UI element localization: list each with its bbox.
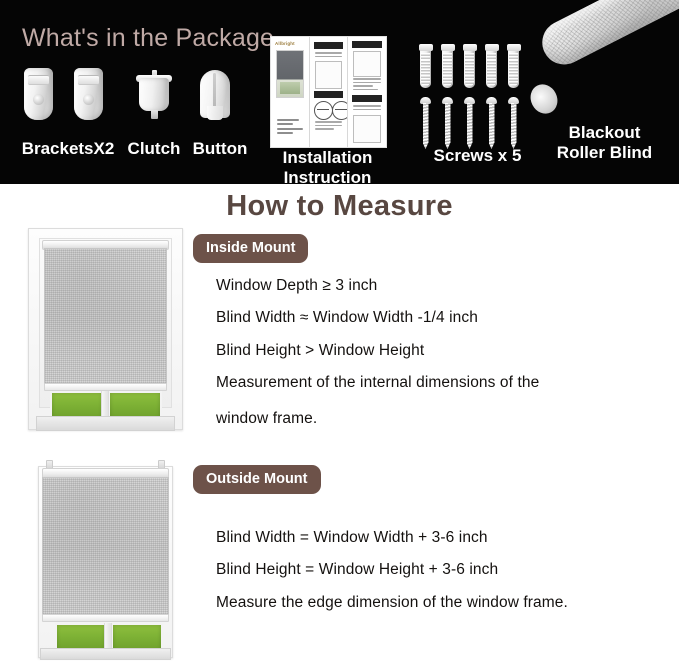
screw-icon <box>487 97 496 149</box>
blind-shade-fabric <box>42 477 169 617</box>
inside-mount-illustration <box>28 228 183 430</box>
package-item-label-brackets: BracketsX2 <box>18 139 118 159</box>
booklet-step-bar <box>352 95 382 102</box>
booklet-diagram-circle <box>332 101 348 120</box>
window-mullion <box>104 623 112 649</box>
instruction-label-line1: Installation <box>283 148 373 167</box>
inside-mount-line-1: Window Depth ≥ 3 inch <box>216 277 377 295</box>
package-item-brackets <box>18 68 118 124</box>
outside-mount-badge: Outside Mount <box>193 465 321 494</box>
rolled-blind-end-cap-icon <box>528 80 562 119</box>
blind-label-line1: Blackout <box>569 123 641 142</box>
button-neck-icon <box>207 106 223 120</box>
screw-icon <box>443 97 452 149</box>
package-title: What's in the Package <box>22 24 274 53</box>
screw-icon <box>421 97 430 149</box>
window-sill <box>40 648 171 660</box>
window-mullion <box>101 391 109 417</box>
blind-label-line2: Roller Blind <box>557 143 652 162</box>
package-item-instruction: Allbright <box>270 36 387 148</box>
blind-shade-fabric <box>44 248 167 386</box>
blind-hem-bar <box>44 383 167 391</box>
blind-hem-bar <box>42 614 169 622</box>
inside-mount-line-2: Blind Width ≈ Window Width -1/4 inch <box>216 309 478 327</box>
booklet-cover-footer <box>277 119 303 141</box>
booklet-text-lines <box>353 78 381 92</box>
inside-mount-badge: Inside Mount <box>193 234 308 263</box>
window-sill <box>36 416 175 431</box>
package-item-clutch <box>131 68 177 124</box>
inside-mount-line-3: Blind Height > Window Height <box>216 342 424 360</box>
package-item-label-clutch: Clutch <box>124 139 184 159</box>
outside-mount-line-1: Blind Width = Window Width + 3-6 inch <box>216 529 488 547</box>
booklet-text-lines <box>315 52 343 59</box>
booklet-diagram-circle <box>314 101 333 120</box>
wall-anchor-icon <box>442 44 453 88</box>
booklet-text-lines <box>353 105 381 112</box>
bracket-icon <box>74 68 103 120</box>
booklet-text-lines <box>315 121 343 132</box>
booklet-parts-sketch <box>315 61 343 89</box>
rolled-blind-icon <box>535 0 679 72</box>
screw-icon <box>509 97 518 149</box>
wall-anchor-icon <box>486 44 497 88</box>
outside-mount-line-3: Measure the edge dimension of the window… <box>216 594 568 612</box>
package-item-blind <box>528 0 679 122</box>
wall-anchor-icon <box>508 44 519 88</box>
package-item-label-instruction: Installation Instruction <box>265 148 390 184</box>
booklet-fold-parts <box>309 37 348 147</box>
booklet-step-bar <box>314 91 344 98</box>
booklet-brand-label: Allbright <box>275 41 295 46</box>
wall-anchor-icon <box>420 44 431 88</box>
package-item-label-button: Button <box>188 139 252 159</box>
package-item-label-blind: Blackout Roller Blind <box>530 123 679 162</box>
outside-mount-line-2: Blind Height = Window Height + 3-6 inch <box>216 561 498 579</box>
booklet-fold-cover: Allbright <box>271 37 309 147</box>
booklet-cover-photo <box>276 50 304 98</box>
clutch-pin-bottom-icon <box>151 110 158 119</box>
wall-anchor-icon <box>464 44 475 88</box>
screw-icon <box>465 97 474 149</box>
instruction-label-line2: Instruction <box>284 168 372 184</box>
clutch-icon <box>139 78 169 111</box>
inside-mount-line-5: window frame. <box>216 410 317 428</box>
booklet-step-sketch <box>353 51 381 77</box>
booklet-tool-sketch <box>353 115 381 143</box>
package-item-screws <box>418 44 538 144</box>
booklet-fold-steps <box>347 37 386 147</box>
how-to-measure-title: How to Measure <box>0 190 679 223</box>
inside-mount-line-4: Measurement of the internal dimensions o… <box>216 374 539 392</box>
package-contents-panel: What's in the Package BracketsX2 Clutch … <box>0 0 679 184</box>
package-item-button <box>196 66 236 124</box>
package-item-label-screws: Screws x 5 <box>410 146 545 166</box>
bracket-icon <box>24 68 53 120</box>
booklet-step-bar <box>314 42 344 49</box>
outside-mount-illustration <box>28 458 183 658</box>
booklet-step-bar <box>352 41 382 48</box>
